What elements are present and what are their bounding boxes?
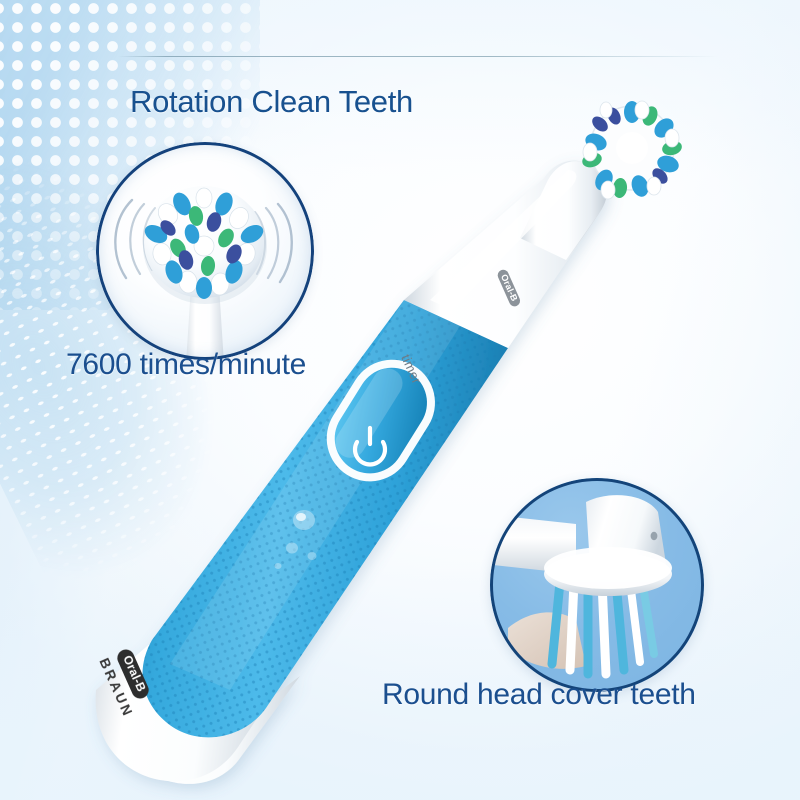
brand-block: Oral-B BRAUN bbox=[97, 646, 158, 720]
power-button-assembly[interactable] bbox=[310, 343, 451, 497]
brush-neck-upper bbox=[520, 161, 607, 260]
product-feature-poster: Rotation Clean Teeth bbox=[0, 0, 800, 800]
power-button[interactable] bbox=[321, 354, 440, 486]
neck-brand-logo: Oral-B bbox=[496, 268, 522, 308]
header-divider-line bbox=[118, 56, 718, 57]
cap-vent-hole bbox=[651, 532, 658, 540]
brush-head-bristle-ring bbox=[580, 101, 683, 199]
rotation-brush-head-illustration bbox=[96, 142, 314, 360]
brush-head-cover-illustration bbox=[490, 478, 704, 692]
caption-speed: 7600 times/minute bbox=[66, 348, 306, 382]
inset-round-head-cover bbox=[490, 478, 704, 692]
brush-neck-shaft bbox=[404, 161, 606, 348]
brush-head-top bbox=[580, 101, 683, 199]
timer-label: timer bbox=[398, 352, 424, 386]
power-button-bezel bbox=[310, 343, 451, 497]
inset-rotation-clean bbox=[96, 142, 314, 360]
page-title: Rotation Clean Teeth bbox=[130, 84, 413, 120]
caption-round-head: Round head cover teeth bbox=[382, 678, 696, 712]
handle-base bbox=[137, 676, 300, 784]
brush-head-disc-top bbox=[590, 106, 674, 190]
power-icon bbox=[355, 428, 385, 464]
water-droplets bbox=[275, 510, 317, 569]
